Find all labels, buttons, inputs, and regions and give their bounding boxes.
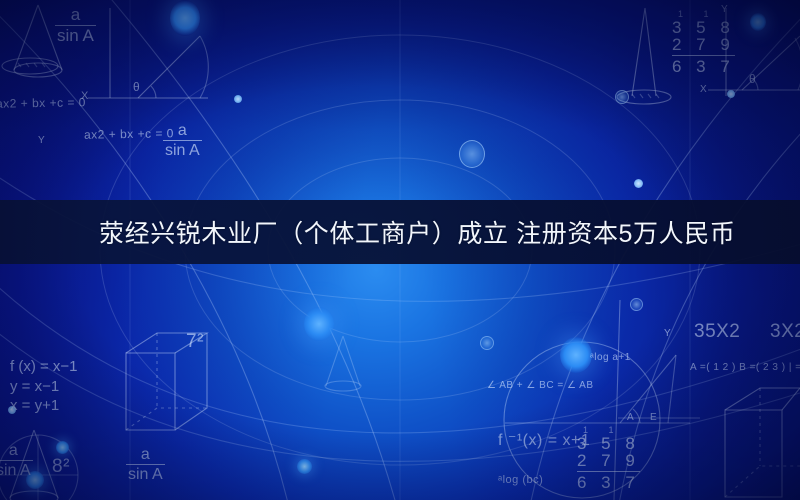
page-title: 荥经兴锐木业厂（个体工商户）成立 注册资本5万人民币 [99, 214, 735, 250]
banner-image: a sin A ax2 + bx +c = 0 X θ ax2 + bx +c … [0, 0, 800, 500]
title-band: 荥经兴锐木业厂（个体工商户）成立 注册资本5万人民币 [0, 200, 800, 264]
